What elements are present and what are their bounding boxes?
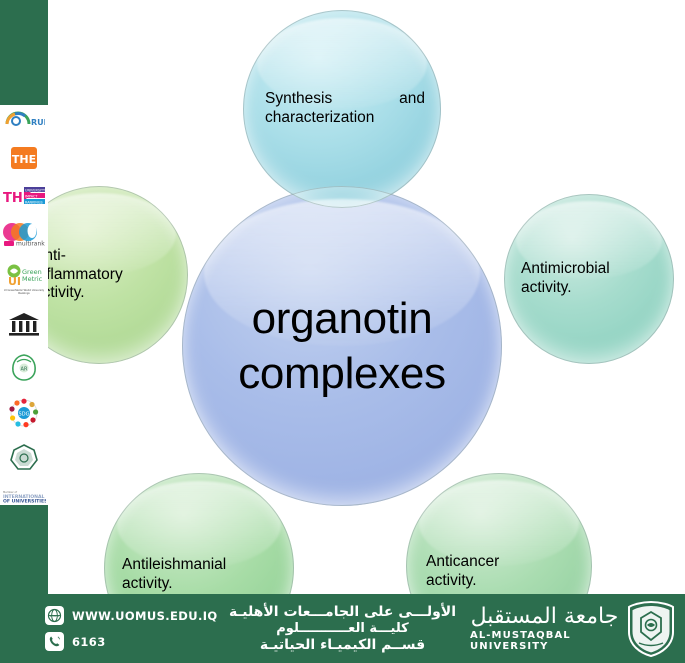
svg-text:www: www: [50, 614, 59, 618]
arab-universities-emblem: [2, 443, 46, 473]
accreditation-seal-icon: AR: [7, 353, 41, 383]
bubble-antileishmanial[interactable]: Antileishmanial activity.: [104, 473, 294, 600]
footer-phone-label: 6163: [72, 635, 106, 649]
svg-text:OF UNIVERSITIES: OF UNIVERSITIES: [3, 499, 46, 503]
svg-text:SDG: SDG: [19, 411, 30, 417]
iau-icon: Member of INTERNATIONAL OF UNIVERSITIES: [2, 489, 46, 503]
svg-text:Member of: Member of: [3, 490, 17, 494]
slide-canvas: Anti- inflammatory activity. Antileishma…: [0, 0, 685, 663]
the-impact-rankings-icon: THE UNIVERSITY IMPACT RANKINGS: [2, 186, 46, 206]
bubble-edge: [504, 194, 674, 364]
svg-text:RANKINGS: RANKINGS: [25, 200, 43, 204]
ui-greenmetric-caption: UI GreenMetric World University Rankings: [2, 290, 46, 296]
svg-text:THE: THE: [12, 153, 36, 166]
footer-arabic-line-2: كليـــة العـــــــــــلوم: [276, 621, 408, 636]
footer-website-label: WWW.UOMUS.EDU.IQ: [72, 609, 218, 623]
accreditation-logo-strip: RUR THE THE UNIVERSITY IMPACT RANKINGS: [0, 105, 48, 505]
bubble-synthesis-characterization[interactable]: Synthesis and characterization: [243, 10, 441, 208]
bubble-edge: [406, 473, 592, 600]
the-impact-rankings-logo: THE UNIVERSITY IMPACT RANKINGS: [2, 186, 46, 206]
the-ranking-icon: THE: [9, 146, 39, 170]
brand-text-block: جامعة المستقبل AL-MUSTAQBAL UNIVERSITY: [470, 605, 619, 651]
ministry-pillars-logo: [2, 311, 46, 337]
phone-icon: [45, 632, 64, 651]
brand-english-name: AL-MUSTAQBAL UNIVERSITY: [470, 630, 619, 652]
footer-arabic-line-3: قســم الكيميـاء الحياتيـة: [260, 637, 425, 653]
bubble-edge: [182, 186, 502, 506]
u-multirank-icon: multirank: [2, 221, 46, 247]
rur-ranking-logo: RUR: [2, 109, 46, 131]
international-association-of-universities-logo: Member of INTERNATIONAL OF UNIVERSITIES: [2, 489, 46, 503]
svg-text:Metric: Metric: [22, 275, 43, 283]
svg-text:IMPACT: IMPACT: [25, 194, 38, 198]
footer-arabic-line-1: الأولـــى على الجامـــعات الأهليـة: [229, 604, 456, 620]
footer-university-brand: جامعة المستقبل AL-MUSTAQBAL UNIVERSITY: [470, 600, 685, 658]
sdg-wheel-icon: SDG: [7, 398, 41, 428]
the-ranking-logo: THE: [2, 146, 46, 170]
footer-website-row[interactable]: www WWW.UOMUS.EDU.IQ: [45, 606, 215, 625]
concept-diagram: Anti- inflammatory activity. Antileishma…: [0, 0, 685, 600]
pillars-icon: [6, 311, 42, 337]
bubble-anticancer[interactable]: Anticancer activity.: [406, 473, 592, 600]
ui-greenmetric-logo: UI Green Metric UI GreenMetric World Uni…: [2, 263, 46, 296]
slide-footer: www WWW.UOMUS.EDU.IQ 6163 الأولـــى على …: [0, 594, 685, 663]
svg-text:UNIVERSITY: UNIVERSITY: [25, 188, 46, 192]
ui-greenmetric-icon: UI Green Metric: [3, 263, 45, 289]
globe-www-icon: www: [45, 606, 64, 625]
u-multirank-logo: multirank: [2, 221, 46, 247]
footer-corner-notch: [48, 578, 90, 594]
footer-contact-block: www WWW.UOMUS.EDU.IQ 6163: [0, 606, 215, 651]
bubble-edge: [104, 473, 294, 600]
brand-arabic-name: جامعة المستقبل: [471, 605, 619, 629]
bubble-center-organotin-complexes[interactable]: organotin complexes: [182, 186, 502, 506]
footer-arabic-block: الأولـــى على الجامـــعات الأهليـة كليــ…: [215, 604, 470, 653]
university-crest-icon: [625, 600, 677, 658]
sdg-wheel-logo: SDG: [2, 398, 46, 428]
arab-universities-icon: [7, 443, 41, 473]
svg-text:AR: AR: [21, 366, 28, 372]
svg-text:UI: UI: [8, 275, 21, 288]
svg-text:RUR: RUR: [31, 118, 45, 127]
footer-phone-row[interactable]: 6163: [45, 632, 215, 651]
bubble-antimicrobial[interactable]: Antimicrobial activity.: [504, 194, 674, 364]
bubble-edge: [243, 10, 441, 208]
svg-text:multirank: multirank: [16, 241, 45, 248]
arabic-accreditation-seal: AR: [2, 353, 46, 383]
rur-ranking-icon: RUR: [3, 109, 45, 131]
